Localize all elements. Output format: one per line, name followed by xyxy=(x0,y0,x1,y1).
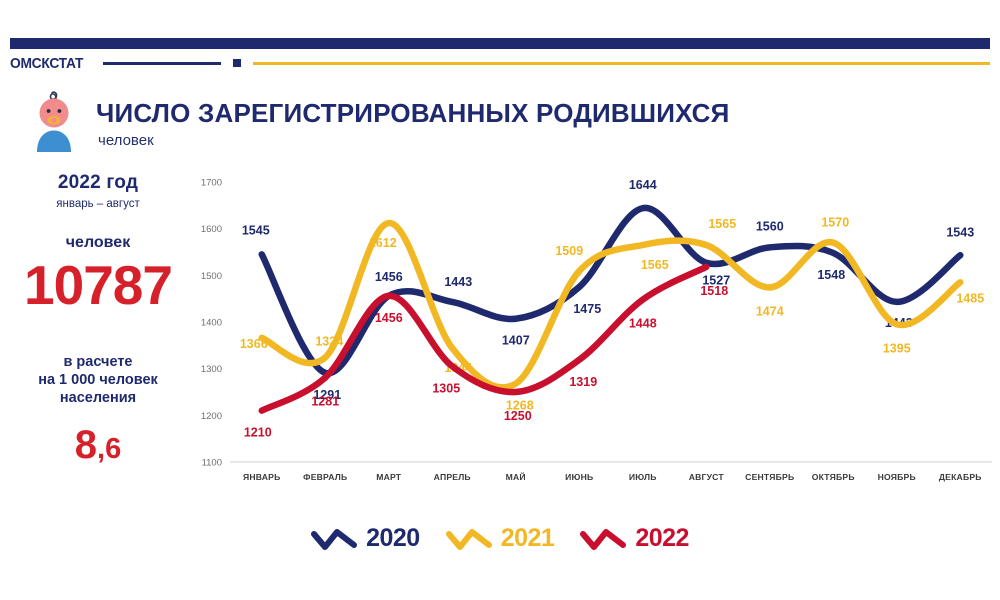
legend-zigzag-icon xyxy=(580,527,626,551)
panel-year: 2022 год xyxy=(0,172,196,194)
y-axis-tick: 1100 xyxy=(202,458,222,469)
header-row: ОМСКСТАТ xyxy=(10,52,990,74)
legend-item-2021[interactable]: 2021 xyxy=(446,524,555,553)
data-label: 1366 xyxy=(240,337,268,351)
y-axis-tick: 1300 xyxy=(201,364,222,375)
data-label: 1570 xyxy=(821,216,849,230)
data-label: 1443 xyxy=(444,275,472,289)
x-axis-tick: ИЮЛЬ xyxy=(629,472,657,482)
x-axis-tick: АВГУСТ xyxy=(689,472,725,482)
chart-legend: 202020212022 xyxy=(0,524,1000,553)
panel-rate-integer: 8 xyxy=(75,423,97,467)
data-label: 1407 xyxy=(502,334,530,348)
data-label: 1324 xyxy=(315,334,343,348)
panel-total-value: 10787 xyxy=(0,258,196,313)
header-top-bar xyxy=(10,38,990,49)
data-label: 1565 xyxy=(708,217,736,231)
data-label: 1518 xyxy=(700,284,728,298)
legend-label: 2022 xyxy=(635,524,689,553)
legend-item-2022[interactable]: 2022 xyxy=(580,524,689,553)
header-square-marker xyxy=(233,59,241,67)
panel-period: январь – август xyxy=(0,198,196,210)
data-label: 1319 xyxy=(569,375,597,389)
summary-panel: 2022 год январь – август человек 10787 в… xyxy=(0,172,196,465)
data-label: 1250 xyxy=(504,409,532,423)
data-label: 1281 xyxy=(311,395,339,409)
x-axis-tick: ФЕВРАЛЬ xyxy=(303,472,347,482)
header-navy-rule xyxy=(103,62,221,65)
data-label: 1305 xyxy=(432,381,460,395)
data-label: 1395 xyxy=(883,341,911,355)
data-label: 1448 xyxy=(629,317,657,331)
data-label: 1548 xyxy=(817,268,845,282)
x-axis-tick: АПРЕЛЬ xyxy=(434,472,471,482)
page-title: ЧИСЛО ЗАРЕГИСТРИРОВАННЫХ РОДИВШИХСЯ xyxy=(96,98,730,129)
x-axis-tick: ДЕКАБРЬ xyxy=(939,472,982,482)
panel-rate-note: в расчете на 1 000 человек населения xyxy=(0,353,196,407)
data-label: 1485 xyxy=(956,291,984,305)
series-2020 xyxy=(262,208,961,373)
x-axis-tick: НОЯБРЬ xyxy=(878,472,916,482)
y-axis-tick: 1500 xyxy=(201,271,222,282)
infographic-root: ОМСКСТАТ ЧИСЛО ЗАРЕГИСТРИРОВАННЫХ РОДИВШ… xyxy=(0,0,1000,600)
line-chart: 1100120013001400150016001700ЯНВАРЬФЕВРАЛ… xyxy=(186,168,1000,508)
y-axis-tick: 1700 xyxy=(201,178,222,189)
series-line-2021 xyxy=(262,223,961,387)
data-label: 1456 xyxy=(375,311,403,325)
chart-canvas: 1100120013001400150016001700ЯНВАРЬФЕВРАЛ… xyxy=(186,168,1000,508)
data-label: 1560 xyxy=(756,219,784,233)
y-axis-tick: 1600 xyxy=(201,224,222,235)
panel-rate-note-line2: на 1 000 человек xyxy=(0,371,196,389)
data-label: 1543 xyxy=(946,225,974,239)
series-2021 xyxy=(262,223,961,387)
data-label: 1612 xyxy=(369,236,397,250)
x-axis-tick: ЯНВАРЬ xyxy=(243,472,280,482)
x-axis-tick: ОКТЯБРЬ xyxy=(812,472,855,482)
data-label: 1509 xyxy=(555,244,583,258)
panel-rate-note-line1: в расчете xyxy=(0,353,196,371)
data-label: 1475 xyxy=(573,302,601,316)
legend-label: 2020 xyxy=(366,524,420,553)
data-label: 1210 xyxy=(244,426,272,440)
baby-icon xyxy=(26,86,82,152)
legend-item-2020[interactable]: 2020 xyxy=(311,524,420,553)
data-label: 1545 xyxy=(242,223,270,237)
data-label: 1474 xyxy=(756,304,784,318)
panel-rate-value: 8,6 xyxy=(0,425,196,465)
header-gold-rule xyxy=(253,62,990,65)
data-label: 1644 xyxy=(629,178,657,192)
data-label: 1565 xyxy=(641,258,669,272)
x-axis-tick: МАЙ xyxy=(506,471,526,482)
omskstat-logo: ОМСКСТАТ xyxy=(10,55,83,72)
y-axis-tick: 1200 xyxy=(201,411,222,422)
panel-unit: человек xyxy=(0,234,196,252)
x-axis-tick: МАРТ xyxy=(376,472,402,482)
y-axis-tick: 1400 xyxy=(201,318,222,329)
x-axis-tick: ИЮНЬ xyxy=(565,472,593,482)
series-line-2020 xyxy=(262,208,961,373)
legend-zigzag-icon xyxy=(311,527,357,551)
data-label: 1456 xyxy=(375,270,403,284)
page-subtitle: человек xyxy=(98,132,154,149)
legend-label: 2021 xyxy=(501,524,555,553)
title-block: ЧИСЛО ЗАРЕГИСТРИРОВАННЫХ РОДИВШИХСЯ чело… xyxy=(14,84,914,162)
legend-zigzag-icon xyxy=(446,527,492,551)
panel-rate-fraction: ,6 xyxy=(97,433,121,465)
x-axis-tick: СЕНТЯБРЬ xyxy=(745,472,794,482)
panel-rate-note-line3: населения xyxy=(0,389,196,407)
